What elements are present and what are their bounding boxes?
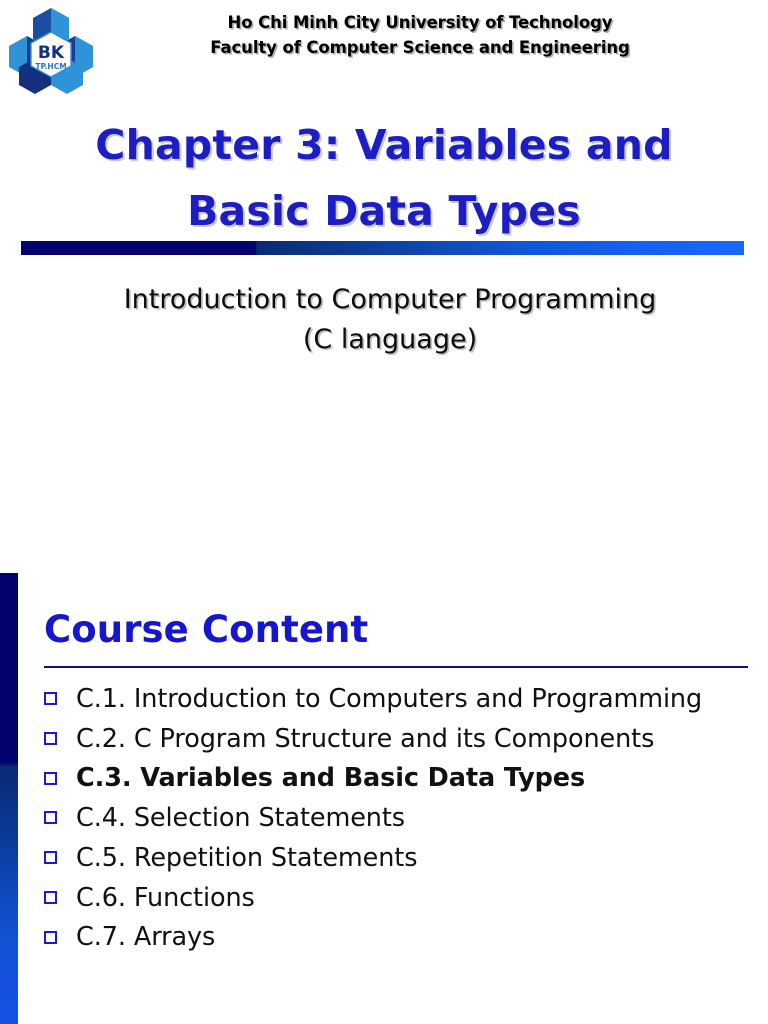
list-item-label: C.6. Functions [76, 883, 255, 913]
list-item[interactable]: C.7. Arrays [40, 919, 754, 957]
course-subtitle-line2: (C language) [40, 320, 740, 360]
bk-tphcm-logo: BK TP.HCM [7, 6, 95, 98]
logo-tphcm-text: TP.HCM [35, 62, 66, 71]
gradient-bar [21, 241, 744, 255]
square-bullet-icon [44, 891, 57, 904]
chapter-title-line1: Chapter 3: Variables and [24, 112, 744, 178]
university-header: Ho Chi Minh City University of Technolog… [100, 10, 740, 60]
course-subtitle: Introduction to Computer Programming (C … [40, 280, 740, 359]
list-item-label: C.5. Repetition Statements [76, 843, 417, 873]
left-accent-strip [0, 573, 18, 1024]
list-item-label: C.2. C Program Structure and its Compone… [76, 724, 654, 754]
heading-divider [44, 666, 748, 668]
square-bullet-icon [44, 851, 57, 864]
title-slide: BK TP.HCM Ho Chi Minh City University of… [0, 0, 768, 565]
list-item-label: C.1. Introduction to Computers and Progr… [76, 684, 702, 714]
course-subtitle-line1: Introduction to Computer Programming [40, 280, 740, 320]
list-item-label: C.7. Arrays [76, 922, 215, 952]
list-item[interactable]: C.5. Repetition Statements [40, 840, 754, 878]
presentation-page: BK TP.HCM Ho Chi Minh City University of… [0, 0, 768, 1024]
list-item-label: C.3. Variables and Basic Data Types [76, 763, 585, 793]
square-bullet-icon [44, 732, 57, 745]
faculty-name: Faculty of Computer Science and Engineer… [100, 35, 740, 60]
list-item[interactable]: C.6. Functions [40, 880, 754, 918]
square-bullet-icon [44, 772, 57, 785]
list-item-current[interactable]: C.3. Variables and Basic Data Types [40, 760, 754, 798]
university-name: Ho Chi Minh City University of Technolog… [228, 13, 613, 32]
square-bullet-icon [44, 931, 57, 944]
chapter-title: Chapter 3: Variables and Basic Data Type… [24, 112, 744, 245]
page-title: Course Content [44, 611, 368, 648]
list-item[interactable]: C.1. Introduction to Computers and Progr… [40, 681, 754, 719]
square-bullet-icon [44, 692, 57, 705]
chapter-title-line2: Basic Data Types [24, 178, 744, 244]
course-content-slide: Course Content C.1. Introduction to Comp… [0, 565, 768, 1024]
list-item[interactable]: C.4. Selection Statements [40, 800, 754, 838]
list-item-label: C.4. Selection Statements [76, 803, 405, 833]
course-content-list: C.1. Introduction to Computers and Progr… [40, 681, 754, 959]
logo-bk-text: BK [38, 43, 65, 63]
square-bullet-icon [44, 811, 57, 824]
list-item[interactable]: C.2. C Program Structure and its Compone… [40, 721, 754, 759]
